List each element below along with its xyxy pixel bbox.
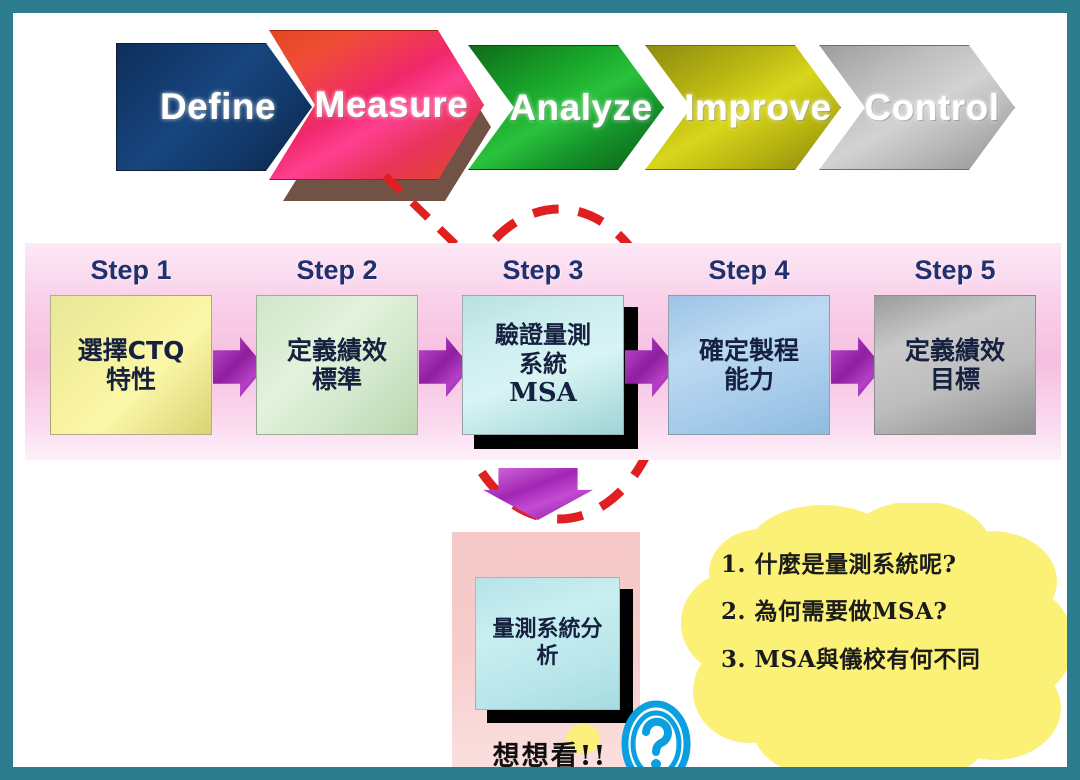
step-box-line: 系統	[519, 350, 567, 378]
step-box-3-shadow-bottom	[474, 435, 638, 449]
thought-cloud-questions: 1. 什麼是量測系統呢? 2. 為何需要做MSA? 3. MSA與儀校有何不同	[721, 541, 1031, 683]
step-box-line: 標準	[312, 365, 362, 395]
step-title: Step 1	[38, 255, 224, 286]
steps-band: Step 1 選擇CTQ 特性 Step 2 定義績效 標準 Step 3 驗證…	[25, 243, 1061, 460]
step-box-line: MSA	[509, 378, 577, 409]
dmaic-phase-control[interactable]: Control	[819, 45, 1015, 170]
step-column-4: Step 4 確定製程 能力	[656, 243, 842, 460]
dmaic-phase-label: Measure	[315, 84, 469, 126]
dmaic-phase-analyze[interactable]: Analyze	[468, 45, 664, 170]
step-title: Step 2	[244, 255, 430, 286]
step-box-line: 選擇CTQ	[78, 336, 185, 366]
step-box-5[interactable]: 定義績效 目標	[874, 295, 1036, 435]
slide-canvas: Define Measure Analyze Improve Control S…	[13, 13, 1067, 767]
step-column-5: Step 5 定義績效 目標	[862, 243, 1048, 460]
think-about-it-label: 想想看!!	[465, 734, 635, 767]
cloud-question: 1. 什麼是量測系統呢?	[721, 541, 1031, 588]
dmaic-phase-label: Control	[864, 87, 999, 129]
dmaic-phase-label: Define	[160, 86, 276, 128]
step-title: Step 4	[656, 255, 842, 286]
step-box-line: 驗證量測	[495, 321, 591, 349]
cloud-question: 3. MSA與儀校有何不同	[721, 636, 1031, 683]
step-box-4[interactable]: 確定製程 能力	[668, 295, 830, 435]
cloud-question: 2. 為何需要做MSA?	[721, 588, 1031, 635]
step-box-2[interactable]: 定義績效 標準	[256, 295, 418, 435]
msa-box-line: 析	[536, 644, 558, 670]
step-column-2: Step 2 定義績效 標準	[244, 243, 430, 460]
step-column-3: Step 3 驗證量測 系統 MSA	[450, 243, 636, 460]
step-box-line: 定義績效	[287, 336, 387, 366]
msa-box-shadow-bottom	[487, 710, 633, 723]
step-box-line: 定義績效	[905, 336, 1005, 366]
step-box-line: 確定製程	[699, 336, 799, 366]
dmaic-phase-label: Analyze	[509, 87, 652, 129]
step-box-line: 能力	[724, 365, 774, 395]
step-title: Step 5	[862, 255, 1048, 286]
step-title: Step 3	[450, 255, 636, 286]
step-box-line: 特性	[106, 365, 156, 395]
dmaic-phase-define[interactable]: Define	[116, 43, 312, 171]
step-column-1: Step 1 選擇CTQ 特性	[38, 243, 224, 460]
step-box-1[interactable]: 選擇CTQ 特性	[50, 295, 212, 435]
question-mark-icon[interactable]	[618, 696, 694, 767]
step3-to-detail-down-arrow	[483, 468, 593, 520]
dmaic-phase-strip: Define Measure Analyze Improve Control	[13, 13, 1067, 213]
step-box-3[interactable]: 驗證量測 系統 MSA	[462, 295, 624, 435]
dmaic-phase-label: Improve	[684, 87, 831, 129]
dmaic-phase-improve[interactable]: Improve	[645, 45, 841, 170]
msa-detail-box[interactable]: 量測系統分 析	[475, 577, 620, 710]
step-box-line: 目標	[930, 365, 980, 395]
msa-box-line: 量測系統分	[492, 617, 602, 643]
